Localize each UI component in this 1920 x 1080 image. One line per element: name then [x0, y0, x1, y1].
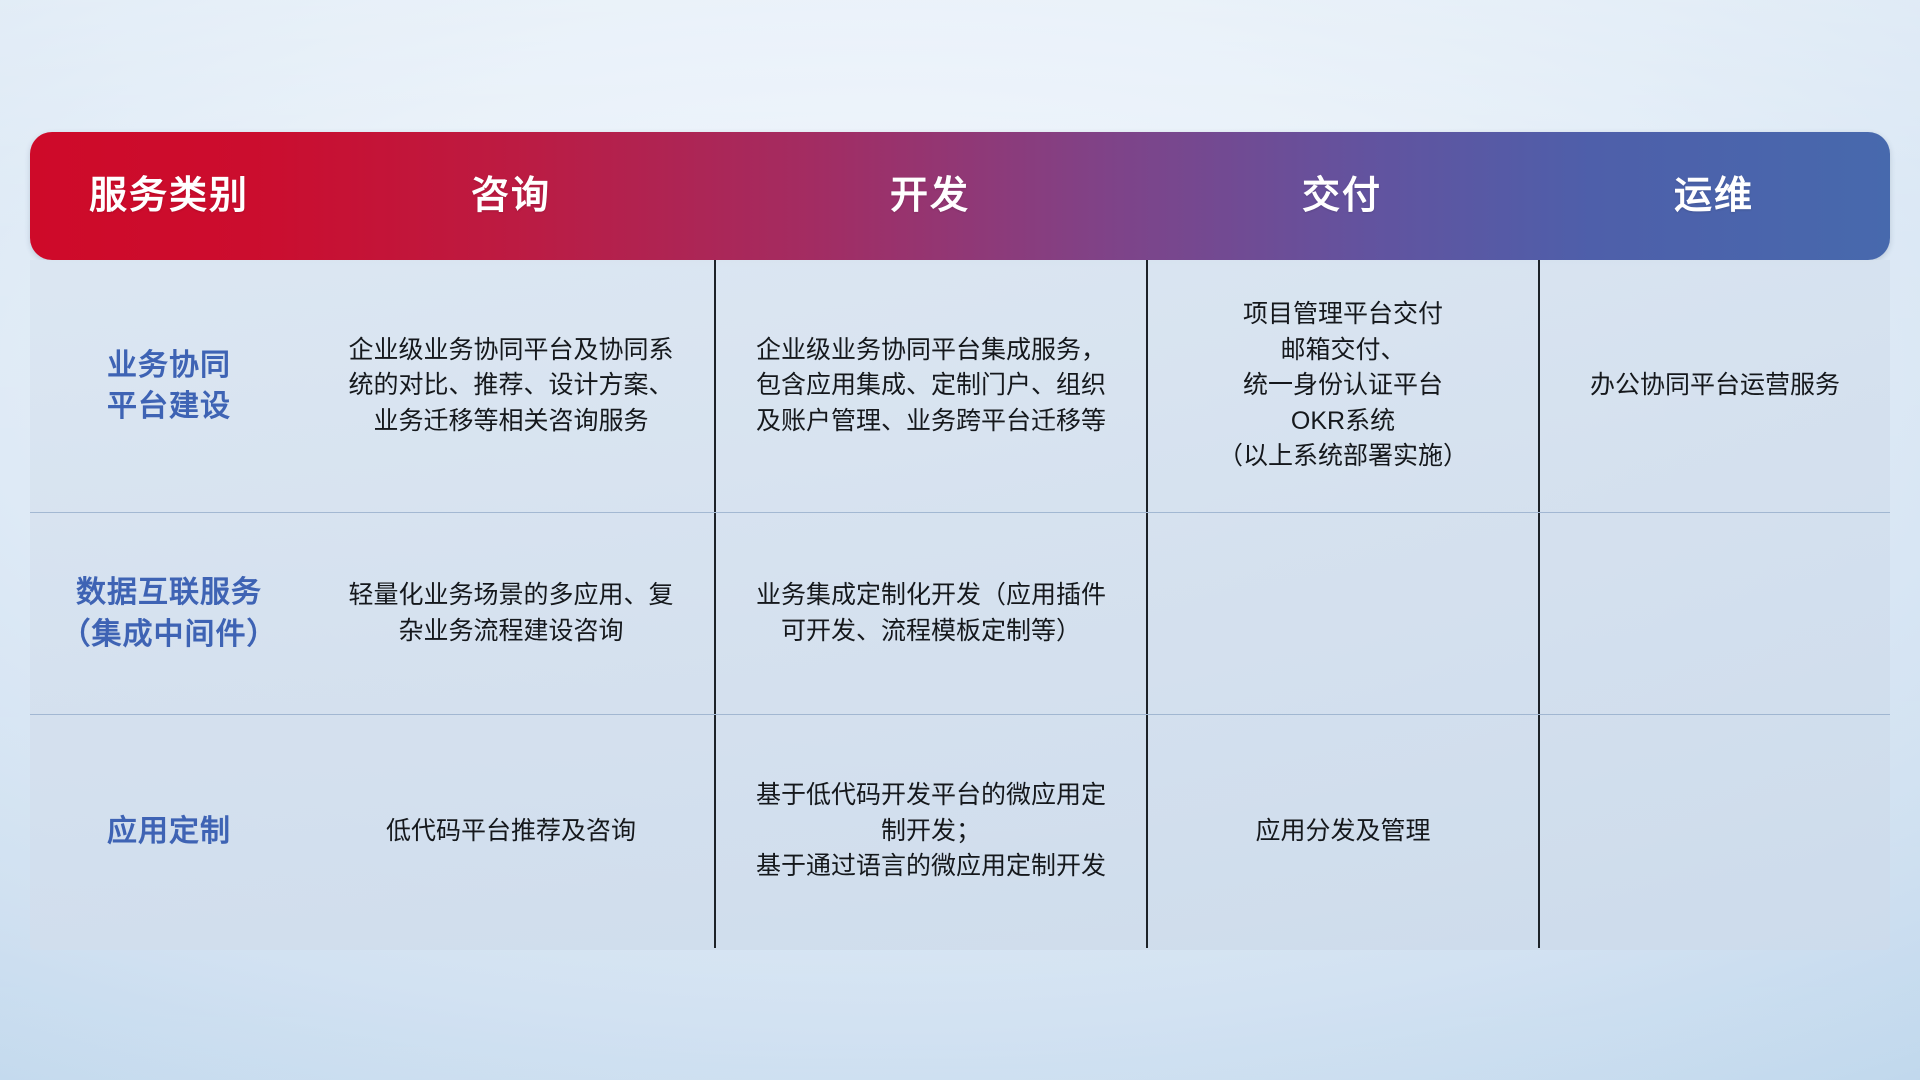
table-row: 数据互联服务 （集成中间件） 轻量化业务场景的多应用、复 杂业务流程建设咨询 业…: [30, 512, 1890, 714]
cell-r2-delivery: [1146, 513, 1538, 714]
cell-r3-operations: [1538, 715, 1890, 948]
column-header-category: 服务类别: [30, 177, 308, 215]
slide-canvas: 服务类别 咨询 开发 交付 运维 业务协同 平台建设 企业级业务协同平台及协同系…: [0, 0, 1920, 1080]
cell-r2-consulting: 轻量化业务场景的多应用、复 杂业务流程建设咨询: [308, 513, 714, 714]
column-header-delivery: 交付: [1146, 177, 1538, 215]
row-label-business-collaboration: 业务协同 平台建设: [30, 260, 308, 512]
cell-r3-delivery: 应用分发及管理: [1146, 715, 1538, 948]
cell-r1-delivery: 项目管理平台交付 邮箱交付、 统一身份认证平台 OKR系统 （以上系统部署实施）: [1146, 260, 1538, 512]
cell-r2-operations: [1538, 513, 1890, 714]
cell-r1-development: 企业级业务协同平台集成服务， 包含应用集成、定制门户、组织 及账户管理、业务跨平…: [714, 260, 1146, 512]
cell-r1-operations: 办公协同平台运营服务: [1538, 260, 1890, 512]
column-header-consulting: 咨询: [308, 177, 714, 215]
column-header-development: 开发: [714, 177, 1146, 215]
column-header-operations: 运维: [1538, 177, 1890, 215]
table-row: 业务协同 平台建设 企业级业务协同平台及协同系 统的对比、推荐、设计方案、 业务…: [30, 260, 1890, 512]
cell-r3-development: 基于低代码开发平台的微应用定 制开发； 基于通过语言的微应用定制开发: [714, 715, 1146, 948]
row-label-data-interconnect: 数据互联服务 （集成中间件）: [30, 513, 308, 714]
cell-r3-consulting: 低代码平台推荐及咨询: [308, 715, 714, 948]
row-label-app-customization: 应用定制: [30, 715, 308, 948]
table-header-row: 服务类别 咨询 开发 交付 运维: [30, 132, 1890, 260]
cell-r2-development: 业务集成定制化开发（应用插件 可开发、流程模板定制等）: [714, 513, 1146, 714]
table-row: 应用定制 低代码平台推荐及咨询 基于低代码开发平台的微应用定 制开发； 基于通过…: [30, 714, 1890, 948]
cell-r1-consulting: 企业级业务协同平台及协同系 统的对比、推荐、设计方案、 业务迁移等相关咨询服务: [308, 260, 714, 512]
table-body: 业务协同 平台建设 企业级业务协同平台及协同系 统的对比、推荐、设计方案、 业务…: [30, 260, 1890, 950]
service-matrix-table: 服务类别 咨询 开发 交付 运维 业务协同 平台建设 企业级业务协同平台及协同系…: [30, 132, 1890, 950]
